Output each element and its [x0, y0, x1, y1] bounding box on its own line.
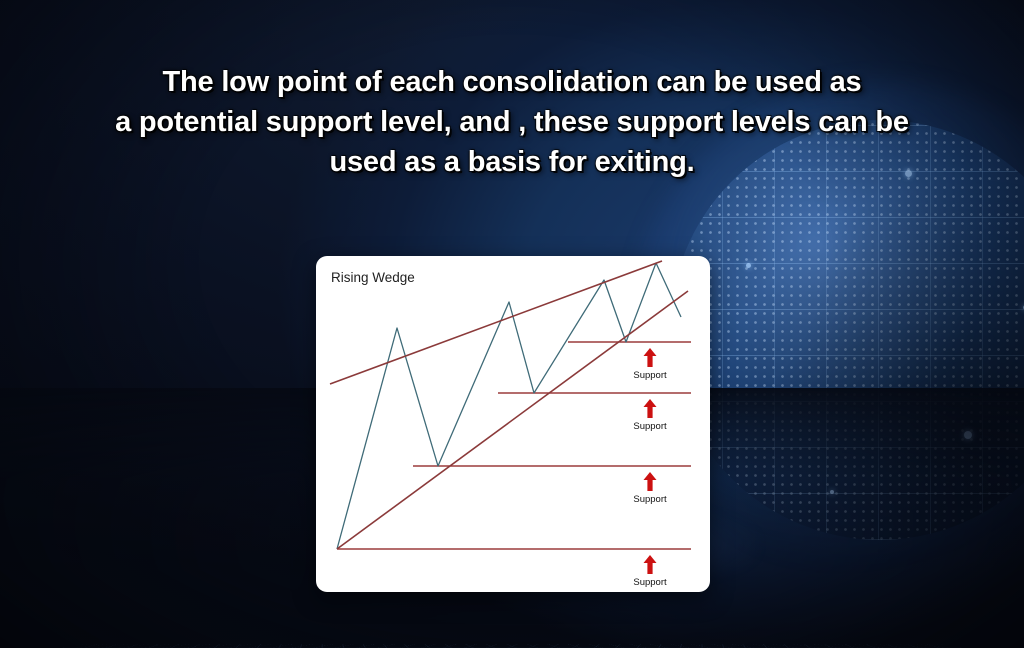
support-arrow-icon — [644, 348, 657, 367]
support-label: Support — [633, 370, 666, 381]
slide-canvas: The low point of each consolidation can … — [0, 0, 1024, 648]
page-title: The low point of each consolidation can … — [0, 62, 1024, 182]
headline-line-3: used as a basis for exiting. — [18, 142, 1006, 182]
support-arrows-group — [644, 348, 657, 574]
support-label: Support — [633, 494, 666, 505]
upper-trendline — [330, 261, 662, 384]
headline-line-1: The low point of each consolidation can … — [18, 62, 1006, 102]
headline-line-2: a potential support level, and , these s… — [18, 102, 1006, 142]
support-label: Support — [633, 421, 666, 432]
price-zigzag — [337, 263, 681, 549]
chart-card: Rising Wedge SupportSupportSupportSuppor… — [316, 256, 710, 592]
support-arrow-icon — [644, 472, 657, 491]
support-arrow-icon — [644, 555, 657, 574]
lower-trendline — [337, 291, 688, 549]
support-arrow-icon — [644, 399, 657, 418]
support-label: Support — [633, 577, 666, 588]
chart-series-group — [330, 261, 688, 549]
